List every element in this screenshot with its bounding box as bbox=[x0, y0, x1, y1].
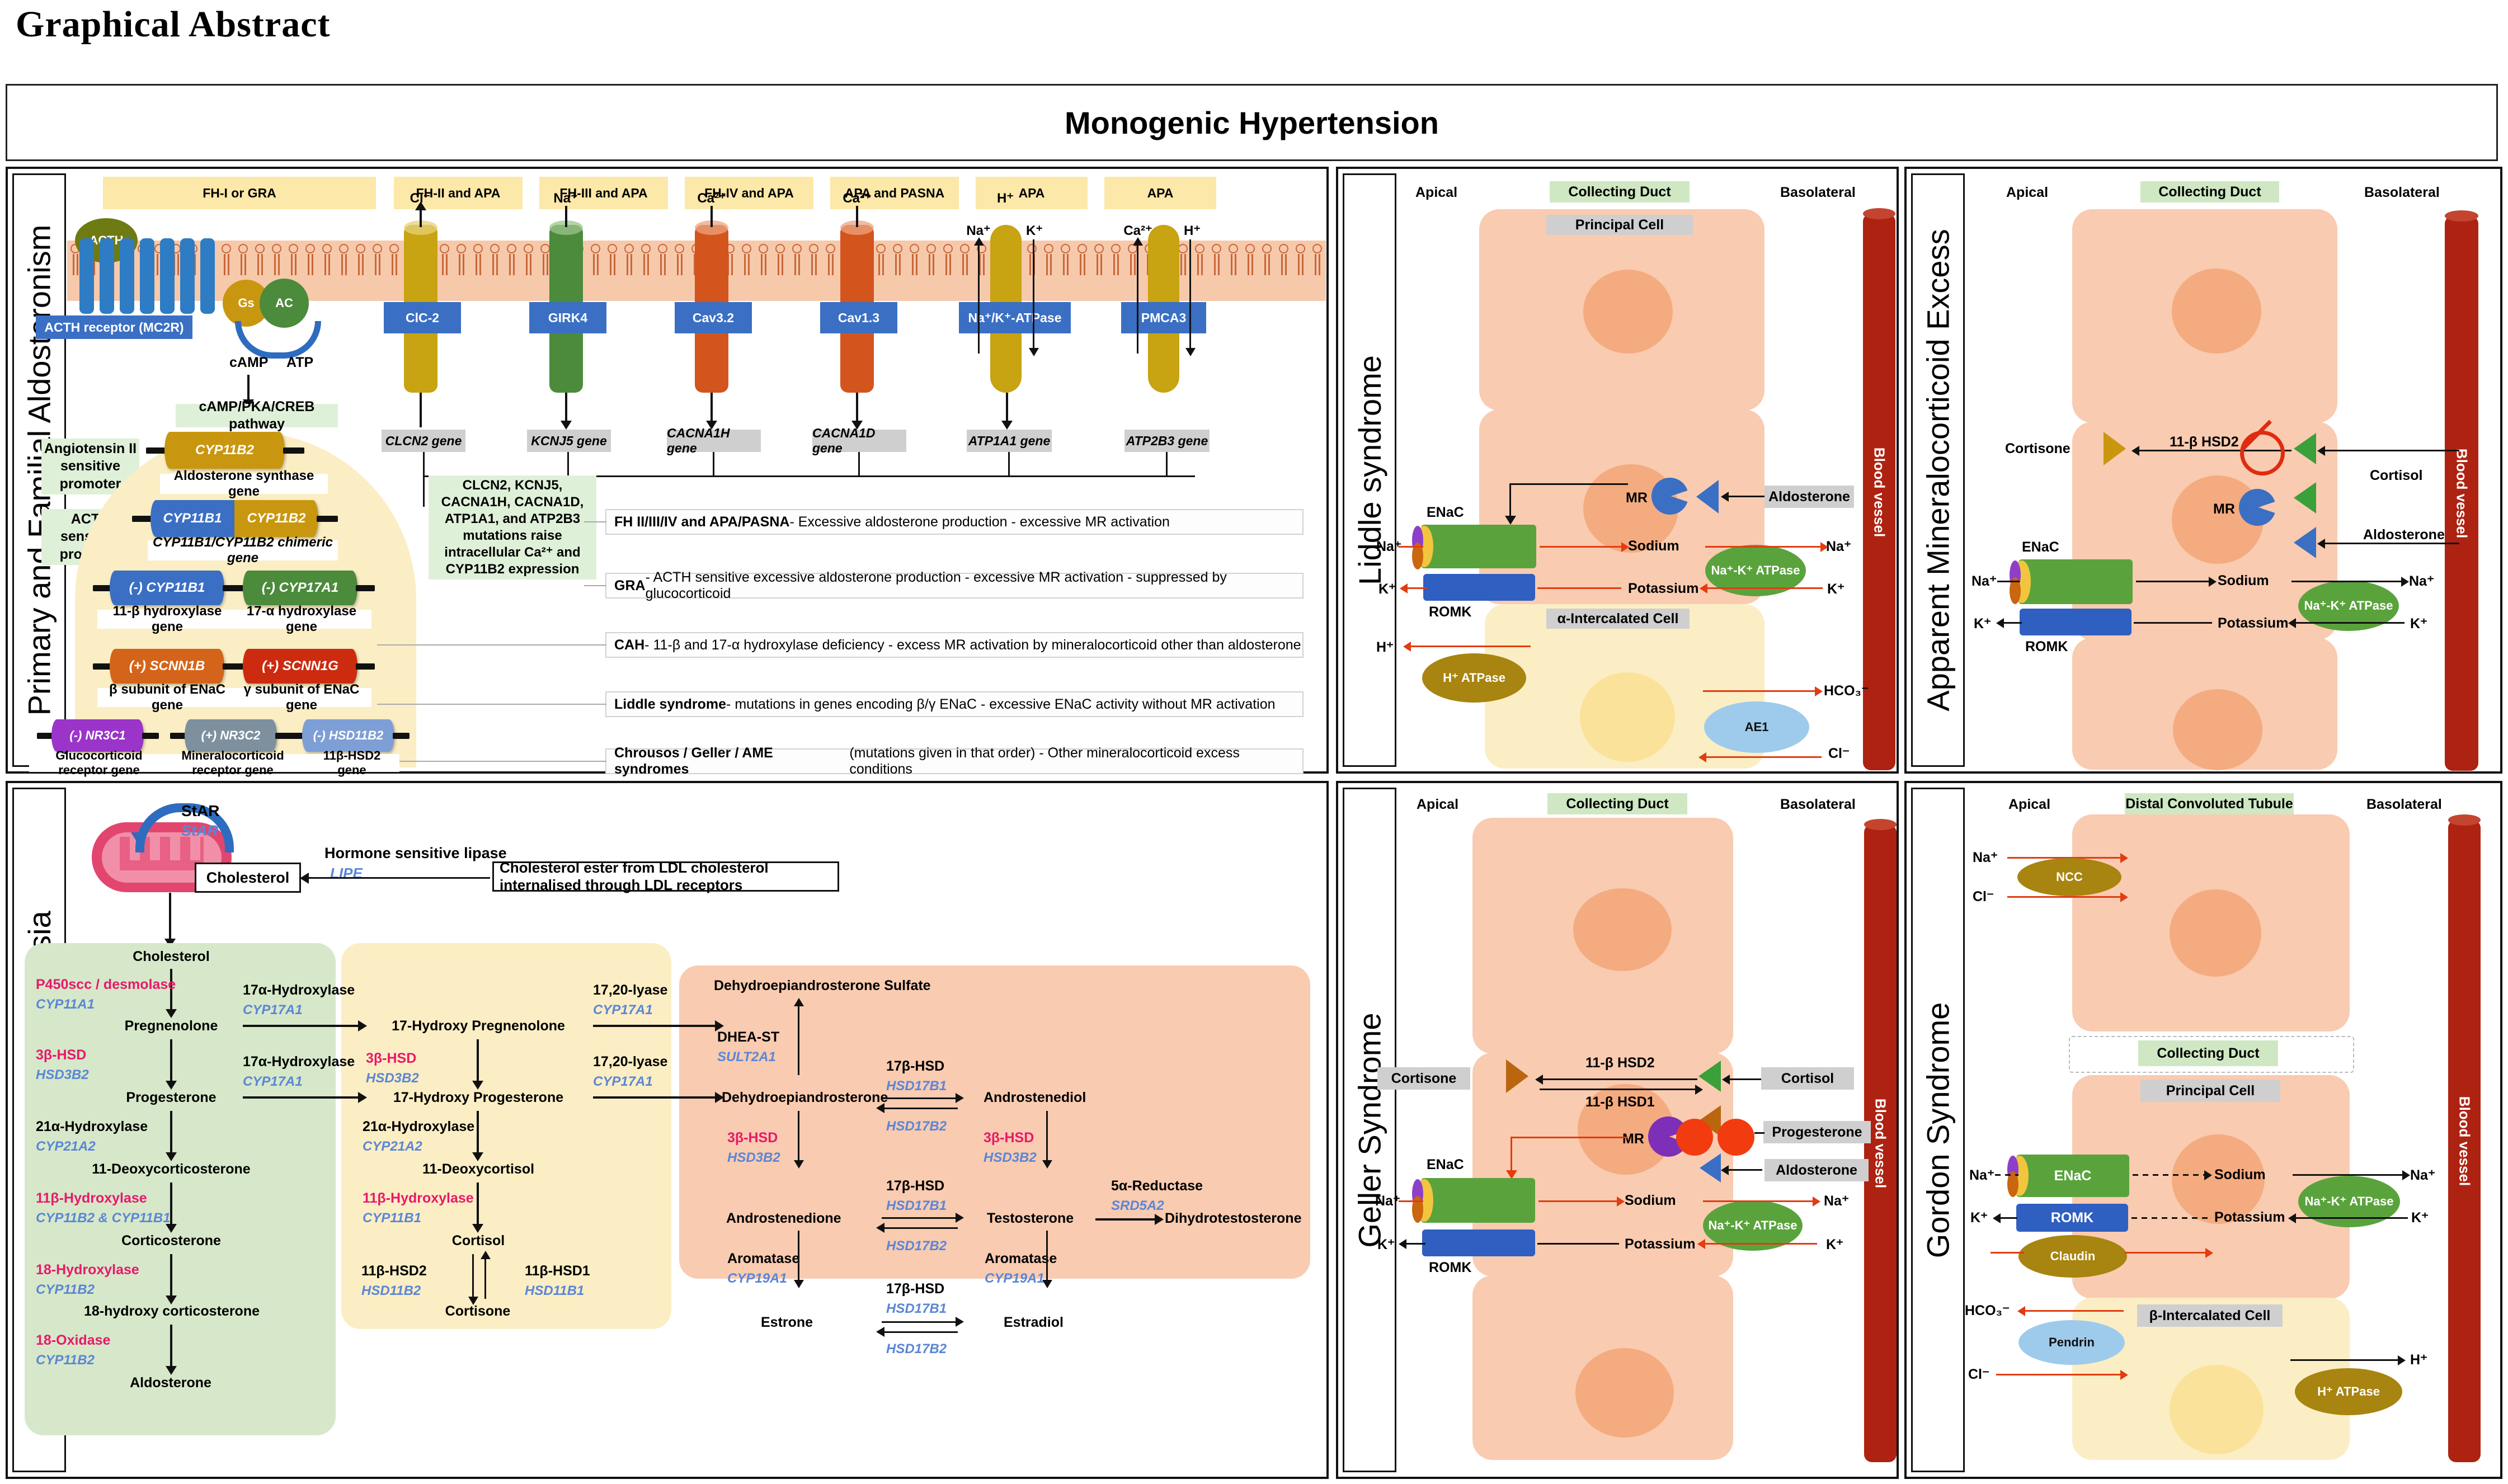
cah-m-head-5 bbox=[166, 1295, 177, 1304]
liddle-h-out-head bbox=[1403, 642, 1411, 652]
explanation-fh-rest: - Excessive aldosterone production - exc… bbox=[789, 514, 1169, 530]
cah-diol-down-head bbox=[1042, 1160, 1052, 1169]
liddle-na-efflux-arrow bbox=[1705, 546, 1823, 548]
gordon-claudin: Claudin bbox=[2018, 1235, 2127, 1278]
enz-lyase-1: 17,20-lyase bbox=[593, 982, 667, 998]
liddle-mr-to-enac-v bbox=[1509, 483, 1511, 518]
lipid-tail bbox=[1046, 254, 1050, 275]
gordon-na-through-head bbox=[2204, 1170, 2212, 1180]
caption-gamma-enac-gene: γ subunit of ENaC gene bbox=[232, 688, 371, 707]
star-gene-label: StAR bbox=[181, 822, 218, 840]
enz-3bhsd-m: 3β-HSD bbox=[36, 1047, 86, 1063]
lipid-tail bbox=[1251, 254, 1255, 275]
cah-dht: Dihydrotestosterone bbox=[1165, 1210, 1301, 1227]
liddle-aldo-arrow bbox=[1725, 496, 1764, 497]
lipid-tail bbox=[1319, 254, 1322, 275]
cah-g-head-4b bbox=[481, 1251, 491, 1259]
lipid-head bbox=[457, 244, 466, 253]
cah-androstenedione: Androstenedione bbox=[726, 1210, 841, 1227]
lipid-head bbox=[943, 244, 953, 253]
lipid-tail bbox=[962, 254, 966, 275]
liddle-aldosterone-tag: Aldosterone bbox=[1764, 486, 1854, 508]
geller-nucleus-top bbox=[1573, 888, 1672, 971]
gordon-romk-channel: ROMK bbox=[2016, 1204, 2128, 1232]
ame-aldo-head bbox=[2317, 539, 2325, 549]
lipid-head bbox=[305, 244, 315, 253]
liddle-na-efflux-head bbox=[1820, 542, 1828, 552]
panel-geller-syndrome: Geller Syndrome Apical Basolateral Colle… bbox=[1336, 781, 1899, 1479]
ldl-to-chol-head bbox=[300, 873, 309, 884]
lipid-tail bbox=[1214, 254, 1217, 275]
cah-testo-down-head bbox=[1042, 1280, 1052, 1288]
geller-progesterone-tag: Progesterone bbox=[1763, 1121, 1871, 1143]
ame-cortisol-molecule-1 bbox=[2294, 433, 2316, 464]
lipid-head bbox=[775, 244, 785, 253]
lipid-tail bbox=[677, 254, 680, 275]
arrowhead-ca-in bbox=[1133, 237, 1143, 246]
geller-hsd1-label: 11-β HSD1 bbox=[1585, 1094, 1655, 1110]
geller-aldo-arrow bbox=[1725, 1169, 1762, 1171]
liddle-enac-channel bbox=[1421, 525, 1536, 568]
helix-7 bbox=[200, 238, 215, 314]
ldl-to-chol-arrow bbox=[305, 877, 490, 879]
lipid-tail bbox=[627, 254, 630, 275]
cyl-cap-right-4 bbox=[356, 585, 375, 591]
cah-17oh-progesterone: 17-Hydroxy Progesterone bbox=[364, 1090, 593, 1106]
geller-cortisone-tag: Cortisone bbox=[1377, 1067, 1470, 1090]
arrow-cav13-up bbox=[856, 206, 858, 227]
lipid-tail bbox=[492, 254, 496, 275]
panel-label-ame: Apparent Mineralocorticoid Excess bbox=[1911, 173, 1965, 767]
cah-diol-to-dhea-arrow bbox=[882, 1108, 958, 1109]
connector-v3 bbox=[713, 452, 714, 477]
cah-dheast-gene: SULT2A1 bbox=[717, 1049, 776, 1065]
cah-estradiol-to-estrone-head bbox=[876, 1327, 884, 1337]
lipid-tail bbox=[916, 254, 919, 275]
cah-dhea-down-head bbox=[794, 1160, 804, 1169]
cah-g-head-2 bbox=[472, 1152, 483, 1161]
lipid-tail bbox=[261, 254, 265, 275]
ame-hsd2-label: 11-β HSD2 bbox=[2170, 434, 2239, 450]
ame-blood-vessel-label: Blood vessel bbox=[2453, 449, 2471, 538]
gordon-enac-channel: ENaC bbox=[2016, 1155, 2129, 1197]
gene-label-clcn2: CLCN2 gene bbox=[382, 430, 465, 452]
gordon-claudin-out-arrow bbox=[2125, 1252, 2208, 1254]
gordon-cl-arrow bbox=[1996, 1374, 2123, 1375]
ame-na-left: Na⁺ bbox=[1971, 573, 1997, 590]
gene-scnn1b: (+) SCNN1B bbox=[110, 649, 224, 684]
lipid-tail bbox=[1097, 254, 1100, 275]
gene-label-cacna1h: CACNA1H gene bbox=[667, 430, 761, 452]
adenylate-cyclase: AC bbox=[260, 279, 309, 328]
ame-hsd2-arrowhead bbox=[2131, 446, 2139, 456]
connector-v6 bbox=[1166, 452, 1168, 477]
ame-nucleus-top bbox=[2172, 268, 2261, 354]
ion-ca-pmca3: Ca²⁺ bbox=[1116, 223, 1160, 239]
lipid-tail bbox=[1080, 254, 1083, 275]
lipid-tail bbox=[341, 254, 345, 275]
enz-3bhsd-g-gene: HSD3B2 bbox=[366, 1071, 419, 1086]
geller-na-through-arrow bbox=[1538, 1200, 1619, 1202]
lipid-head bbox=[926, 244, 936, 253]
gordon-na-top-head bbox=[2120, 853, 2128, 863]
lipid-head bbox=[1094, 244, 1104, 253]
cah-17bhsd-1-gene2: HSD17B2 bbox=[886, 1119, 947, 1134]
connector-v5 bbox=[1008, 452, 1010, 477]
lipid-tail bbox=[513, 254, 516, 275]
geller-basolateral-label: Basolateral bbox=[1780, 797, 1856, 813]
ame-mr-label: MR bbox=[2213, 501, 2235, 517]
enz-lyase-2: 17,20-lyase bbox=[593, 1054, 667, 1070]
ame-enac-channel bbox=[2018, 559, 2133, 604]
liddle-collecting-duct-tag: Collecting Duct bbox=[1550, 181, 1690, 202]
ame-sodium-label: Sodium bbox=[2218, 573, 2269, 589]
arrow-girk4-up bbox=[565, 206, 567, 227]
panel-label-liddle: Liddle syndrome bbox=[1343, 173, 1396, 767]
lipid-tail bbox=[681, 254, 684, 275]
helix-4 bbox=[140, 238, 154, 314]
liddle-na-in-arrow bbox=[1399, 546, 1423, 548]
cah-g-head-3 bbox=[472, 1224, 483, 1233]
ame-cortisol-label: Cortisol bbox=[2370, 468, 2422, 484]
gordon-claudin-out-head bbox=[2205, 1248, 2213, 1258]
ame-block-icon bbox=[2240, 431, 2285, 475]
enz-11bhsd1: 11β-HSD1 bbox=[525, 1263, 590, 1279]
arrowhead-na-in bbox=[974, 237, 984, 246]
lipid-tail bbox=[1113, 254, 1117, 275]
ion-ca-cav13: Ca²⁺ bbox=[835, 190, 879, 206]
enz-11bhsd2: 11β-HSD2 bbox=[361, 1263, 427, 1279]
cah-18-hydroxy-corticosterone: 18-hydroxy corticosterone bbox=[67, 1303, 276, 1320]
gordon-k-influx-arrow bbox=[2293, 1217, 2408, 1219]
gene-hsd11b2: (-) HSD11B2 bbox=[302, 719, 394, 752]
lipid-tail bbox=[1197, 254, 1201, 275]
lipid-tail bbox=[1184, 254, 1188, 275]
lipid-head bbox=[322, 244, 332, 253]
lipid-tail bbox=[463, 254, 466, 275]
channel-label-pmca3: PMCA3 bbox=[1121, 302, 1206, 333]
gordon-k-influx-head bbox=[2288, 1213, 2296, 1223]
ame-na-through-head bbox=[2209, 577, 2217, 587]
lipid-tail bbox=[643, 254, 647, 275]
lipid-tail bbox=[244, 254, 248, 275]
gordon-blood-vessel: Blood vessel bbox=[2448, 820, 2481, 1462]
caption-aldosterone-synthase: Aldosterone synthase gene bbox=[160, 474, 328, 494]
arrow-h-out bbox=[1189, 239, 1191, 351]
lipid-tail bbox=[496, 254, 500, 275]
enz-3bhsd-g: 3β-HSD bbox=[366, 1050, 416, 1067]
lipid-tail bbox=[882, 254, 886, 275]
androgen-zone bbox=[679, 965, 1310, 1279]
gordon-cl-bottom: Cl⁻ bbox=[1968, 1366, 1989, 1383]
lipid-tail bbox=[1285, 254, 1288, 275]
lipid-tail bbox=[664, 254, 667, 275]
cah-estrone: Estrone bbox=[761, 1315, 813, 1331]
lipid-tail bbox=[1218, 254, 1221, 275]
enz-21a-g: 21α-Hydroxylase bbox=[363, 1119, 474, 1135]
cah-estradiol-to-estrone-arrow bbox=[882, 1331, 958, 1333]
liddle-blood-vessel-label: Blood vessel bbox=[1871, 447, 1888, 536]
main-title-band: Monogenic Hypertension bbox=[6, 84, 2498, 161]
arrow-ca-in bbox=[1137, 242, 1138, 354]
leader-1 bbox=[584, 521, 606, 522]
geller-k-left: K⁺ bbox=[1377, 1236, 1395, 1253]
ame-k-out-head bbox=[1996, 618, 2004, 628]
cah-andro-down-head bbox=[794, 1280, 804, 1288]
cah-11-deoxycorticosterone: 11-Deoxycorticosterone bbox=[70, 1161, 272, 1177]
lipid-head bbox=[1296, 244, 1305, 253]
cah-17oh-pregnenolone: 17-Hydroxy Pregnenolone bbox=[364, 1018, 593, 1034]
geller-aldosterone-molecule bbox=[1700, 1153, 1721, 1183]
connector-v1 bbox=[423, 452, 425, 477]
cah-3bhsd-a2-gene: HSD3B2 bbox=[984, 1150, 1037, 1166]
geller-cortisol-head bbox=[1722, 1075, 1730, 1085]
gordon-na-efflux-arrow bbox=[2293, 1174, 2406, 1176]
leader-4 bbox=[377, 704, 606, 705]
enz-11bhsd2-gene: HSD11B2 bbox=[361, 1283, 421, 1299]
enz-18hydroxylase: 18-Hydroxylase bbox=[36, 1262, 139, 1278]
lipid-tail bbox=[798, 254, 802, 275]
cah-lyase-arrow-1 bbox=[593, 1025, 717, 1027]
channel-label-clc2: ClC-2 bbox=[384, 302, 461, 333]
enz-11b-m-gene: CYP11B2 & CYP11B1 bbox=[36, 1210, 171, 1226]
lipid-tail bbox=[1315, 254, 1318, 275]
gordon-k-left: K⁺ bbox=[1970, 1209, 1988, 1226]
cah-17bhsd-3-gene1: HSD17B1 bbox=[886, 1301, 947, 1317]
liddle-k-through-arrow bbox=[1537, 587, 1621, 589]
liddle-enac-label: ENaC bbox=[1427, 505, 1464, 521]
connector-v2 bbox=[567, 452, 569, 477]
lipid-tail bbox=[476, 254, 479, 275]
gordon-claudin-in-arrow bbox=[1991, 1252, 2024, 1254]
explanation-gra-rest: - ACTH sensitive excessive aldosterone p… bbox=[646, 569, 1302, 602]
star-label: StAR bbox=[181, 802, 219, 820]
gene-cyp11b2: CYP11B2 bbox=[164, 432, 285, 469]
ame-k-influx-arrow bbox=[2293, 622, 2405, 624]
lipid-tail bbox=[1084, 254, 1087, 275]
geller-aldosterone-tag: Aldosterone bbox=[1764, 1159, 1869, 1181]
enz-17a-2: 17α-Hydroxylase bbox=[243, 1054, 355, 1070]
explanation-gra-bold: GRA bbox=[614, 578, 646, 594]
cah-estradiol: Estradiol bbox=[1004, 1315, 1064, 1331]
cah-11-deoxycortisol: 11-Deoxycortisol bbox=[386, 1161, 571, 1177]
lipid-tail bbox=[828, 254, 831, 275]
gordon-na-top: Na⁺ bbox=[1973, 849, 1998, 866]
cah-g-arrow-4b bbox=[484, 1254, 486, 1299]
lipid-tail bbox=[295, 254, 298, 275]
cah-pregnenolone: Pregnenolone bbox=[104, 1018, 238, 1034]
lipid-tail bbox=[1117, 254, 1121, 275]
cah-testo-to-andro-arrow bbox=[882, 1227, 958, 1229]
gordon-potassium-label: Potassium bbox=[2214, 1209, 2285, 1226]
ame-blood-vessel: Blood vessel bbox=[2445, 216, 2478, 771]
cah-17bhsd-3-gene2: HSD17B2 bbox=[886, 1341, 947, 1357]
geller-mr-label: MR bbox=[1622, 1131, 1644, 1147]
lipid-tail bbox=[257, 254, 261, 275]
panel-congenital-adrenal-hyperplasia: Congenital Adrenal Hyperplasia StAR StAR… bbox=[6, 781, 1329, 1479]
enz-21a-g-gene: CYP21A2 bbox=[363, 1139, 422, 1155]
gordon-dct-tag: Distal Convoluted Tubule bbox=[2125, 793, 2294, 814]
cah-andro-down-arrow bbox=[798, 1231, 799, 1282]
ame-vessel-cap bbox=[2445, 210, 2478, 222]
lipid-tail bbox=[794, 254, 798, 275]
geller-mr-to-enac-v bbox=[1511, 1137, 1512, 1174]
cah-testo-to-dht-arrow bbox=[1095, 1218, 1157, 1221]
cah-g-head-1 bbox=[472, 1081, 483, 1090]
ion-h-pmca3: H⁺ bbox=[1173, 223, 1212, 239]
leader-5 bbox=[399, 761, 606, 762]
enz-lyase-2-gene: CYP17A1 bbox=[593, 1074, 653, 1090]
liddle-romk-label: ROMK bbox=[1429, 604, 1471, 620]
liddle-k-influx-head bbox=[1700, 583, 1707, 593]
cah-testo-to-dht-head bbox=[1155, 1214, 1164, 1225]
gordon-hco3: HCO₃⁻ bbox=[1965, 1302, 2010, 1319]
cah-3bhsd-a2: 3β-HSD bbox=[984, 1130, 1034, 1146]
leader-2 bbox=[584, 585, 606, 586]
ion-k-atp1a1: K⁺ bbox=[1015, 223, 1054, 239]
cah-17bhsd-1: 17β-HSD bbox=[886, 1058, 944, 1075]
channel-label-cav32: Cav3.2 bbox=[675, 302, 752, 333]
gordon-blood-vessel-label: Blood vessel bbox=[2456, 1096, 2473, 1186]
ldl-box: Cholesterol ester from LDL cholesterol i… bbox=[492, 861, 839, 892]
geller-blood-vessel: Blood vessel bbox=[1864, 825, 1897, 1462]
lipid-tail bbox=[459, 254, 462, 275]
enz-17a-1-gene: CYP17A1 bbox=[243, 1002, 303, 1018]
panel-label-gordon: Gordon Syndrome bbox=[1911, 788, 1965, 1472]
cah-estrone-to-estradiol-arrow bbox=[882, 1321, 958, 1323]
cah-m-head-2 bbox=[166, 1081, 177, 1090]
ame-aldosterone-label: Aldosterone bbox=[2363, 527, 2445, 543]
gene-nr3c1: (-) NR3C1 bbox=[51, 719, 144, 752]
cah-dheast: DHEA-ST bbox=[717, 1029, 779, 1045]
lipid-head bbox=[759, 244, 768, 253]
cah-dhea-to-diol-head bbox=[956, 1093, 964, 1103]
cah-17bhsd-2: 17β-HSD bbox=[886, 1178, 944, 1194]
lipid-tail bbox=[593, 254, 596, 275]
lipid-tail bbox=[647, 254, 651, 275]
liddle-nucleus-top bbox=[1583, 270, 1673, 354]
lipid-tail bbox=[832, 254, 835, 275]
explanation-cah-rest: - 11-β and 17-α hydroxylase deficiency -… bbox=[644, 637, 1301, 653]
ame-romk-label: ROMK bbox=[2025, 639, 2068, 655]
ame-cortisone-label: Cortisone bbox=[2005, 441, 2071, 457]
lipid-head bbox=[624, 244, 634, 253]
lipid-tail bbox=[929, 254, 932, 275]
hsl-gene-label: LIPE bbox=[330, 865, 363, 882]
lipid-head bbox=[490, 244, 500, 253]
enz-p450scc-gene: CYP11A1 bbox=[36, 997, 95, 1012]
ame-aldosterone-molecule bbox=[2294, 527, 2316, 558]
liddle-k-out-head bbox=[1400, 583, 1408, 593]
lipid-head bbox=[373, 244, 382, 253]
lipid-head bbox=[608, 244, 617, 253]
lipid-tail bbox=[1050, 254, 1053, 275]
gene-scnn1g: (+) SCNN1G bbox=[243, 649, 357, 684]
arrow-cav32-down bbox=[710, 393, 713, 423]
lipid-tail bbox=[811, 254, 815, 275]
geller-na-in-arrow bbox=[1399, 1200, 1423, 1202]
lipid-tail bbox=[530, 254, 533, 275]
lipid-tail bbox=[274, 254, 277, 275]
arrow-girk4-down bbox=[565, 393, 567, 423]
cah-17a-arrow-1 bbox=[243, 1025, 360, 1027]
liddle-h-left: H⁺ bbox=[1376, 639, 1394, 656]
cah-5a-reductase-gene: SRD5A2 bbox=[1111, 1198, 1164, 1214]
gene-label-atp1a1: ATP1A1 gene bbox=[967, 430, 1052, 452]
liddle-cl: Cl⁻ bbox=[1828, 745, 1850, 762]
graphical-abstract-page: Graphical Abstract Monogenic Hypertensio… bbox=[0, 0, 2508, 1484]
lipid-head bbox=[540, 244, 550, 253]
lipid-tail bbox=[731, 254, 735, 275]
lipid-tail bbox=[1067, 254, 1070, 275]
lipid-head bbox=[658, 244, 667, 253]
lipid-tail bbox=[949, 254, 953, 275]
hsl-label: Hormone sensitive lipase bbox=[324, 845, 507, 862]
lipid-tail bbox=[379, 254, 382, 275]
gordon-cl-head bbox=[2120, 1370, 2128, 1380]
cah-g-head-4a bbox=[468, 1297, 478, 1305]
gordon-basolateral-label: Basolateral bbox=[2366, 797, 2442, 813]
lipid-head bbox=[1212, 244, 1221, 253]
cah-lyase-arrow-2 bbox=[593, 1096, 717, 1099]
lipid-tail bbox=[899, 254, 902, 275]
geller-hsd2-label: 11-β HSD2 bbox=[1585, 1055, 1655, 1071]
arrow-cav13-down bbox=[856, 393, 858, 423]
lipid-tail bbox=[241, 254, 244, 275]
page-title: Graphical Abstract bbox=[16, 3, 330, 46]
cyl-cap-right-1 bbox=[283, 447, 304, 454]
explanation-cah-bold: CAH bbox=[614, 637, 644, 653]
lipid-tail bbox=[1100, 254, 1104, 275]
geller-na-left: Na⁺ bbox=[1375, 1193, 1400, 1209]
channel-label-nakatpase: Na⁺/K⁺-ATPase bbox=[959, 302, 1071, 333]
lipid-tail bbox=[614, 254, 617, 275]
helix-3 bbox=[120, 238, 134, 314]
gordon-k-out-head bbox=[1993, 1213, 2001, 1223]
liddle-potassium-label: Potassium bbox=[1628, 581, 1698, 597]
arrowhead-girk4-down bbox=[561, 421, 572, 430]
lipid-tail bbox=[1063, 254, 1066, 275]
liddle-cl-arrow bbox=[1703, 756, 1822, 758]
cah-andro-to-testo-arrow bbox=[882, 1217, 958, 1219]
explanation-liddle-bold: Liddle syndrome bbox=[614, 696, 726, 713]
liddle-na-right: Na⁺ bbox=[1826, 538, 1851, 555]
liddle-romk-channel bbox=[1423, 574, 1535, 601]
geller-romk-label: ROMK bbox=[1429, 1260, 1471, 1276]
geller-k-influx-arrow bbox=[1702, 1243, 1817, 1245]
liddle-nucleus-intercalated bbox=[1580, 672, 1675, 762]
gordon-ncc: NCC bbox=[2017, 858, 2121, 896]
helix-5 bbox=[160, 238, 175, 314]
lipid-head bbox=[1229, 244, 1238, 253]
cah-3bhsd-a1-gene: HSD3B2 bbox=[727, 1150, 780, 1166]
geller-apical-label: Apical bbox=[1417, 797, 1458, 813]
liddle-na-through-arrow bbox=[1540, 546, 1624, 548]
cah-m-arrow-2 bbox=[170, 1039, 172, 1083]
liddle-k-left: K⁺ bbox=[1378, 581, 1396, 597]
lipid-head bbox=[675, 244, 684, 253]
explanation-chrousos-rest: (mutations given in that order) - Other … bbox=[849, 745, 1302, 778]
lipid-tail bbox=[345, 254, 349, 275]
geller-sodium-label: Sodium bbox=[1625, 1193, 1676, 1209]
ame-na-efflux-arrow bbox=[2291, 581, 2403, 582]
lipid-head bbox=[1077, 244, 1087, 253]
camp-arc bbox=[235, 321, 321, 359]
cah-andro-to-testo-head bbox=[956, 1213, 964, 1223]
lipid-tail bbox=[878, 254, 882, 275]
lipid-tail bbox=[765, 254, 768, 275]
enz-18hydroxylase-gene: CYP11B2 bbox=[36, 1282, 95, 1298]
